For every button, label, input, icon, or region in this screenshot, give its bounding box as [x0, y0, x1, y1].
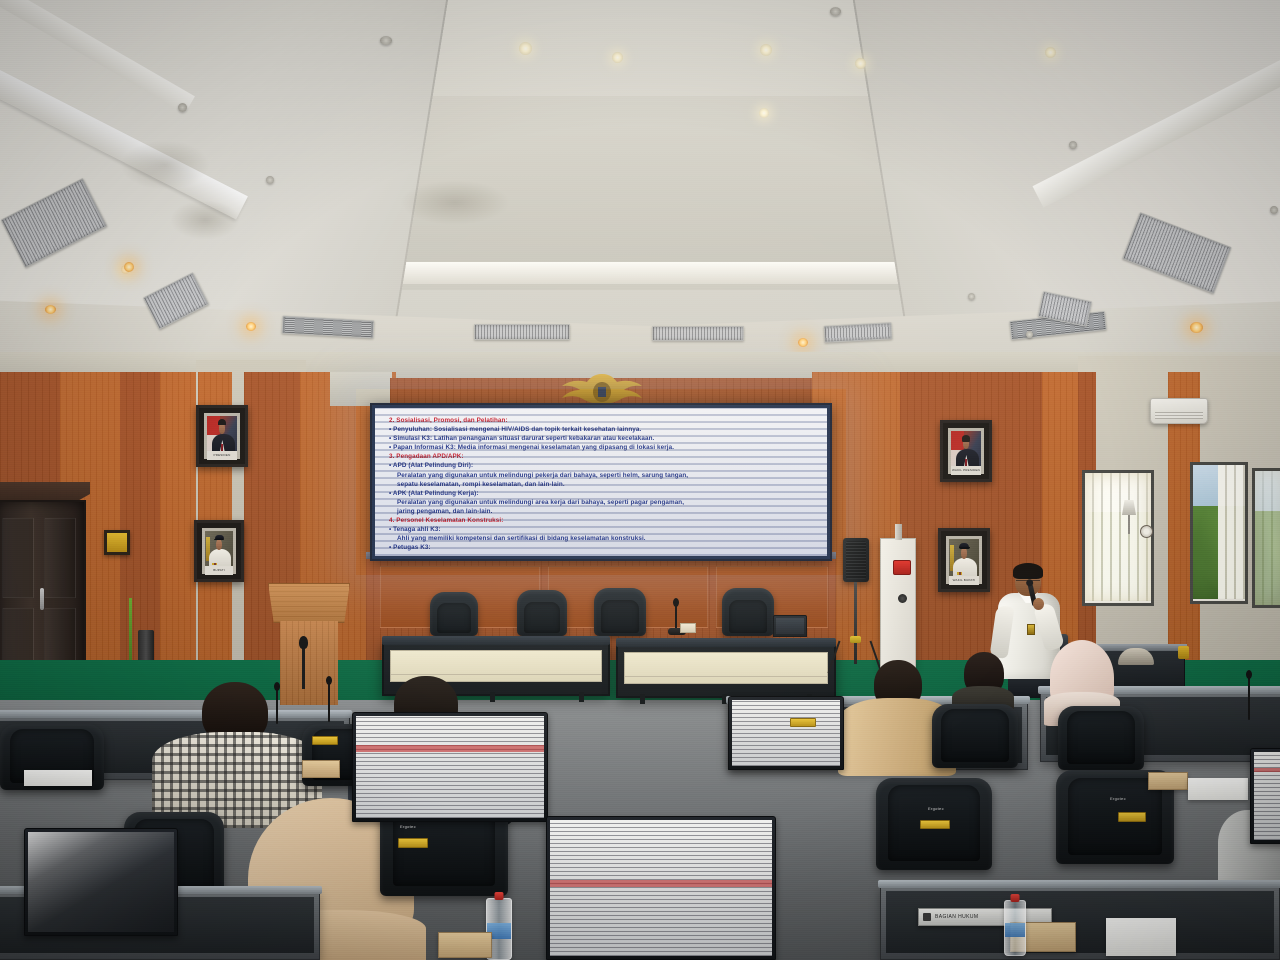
table-leg — [640, 694, 645, 704]
laptop-screen — [28, 832, 174, 932]
slide-line-1: • Penyuluhan: Sosialisasi mengenai HIV/A… — [389, 425, 817, 434]
table-top-edge — [382, 636, 610, 645]
portrait-caption: WAKIL PRESIDEN REPUBLIK INDONESIA — [951, 466, 981, 475]
portrait-image — [951, 431, 981, 471]
slide-line-7: sepatu keselamatan, rompi keselamatan, d… — [389, 480, 817, 489]
bottle-cap — [1011, 894, 1020, 902]
attendee-laptop-center[interactable] — [352, 712, 548, 822]
wall-behind-screen-top — [330, 372, 392, 406]
portrait-caption: BUPATI — [205, 566, 233, 575]
chair-asset-tag — [790, 718, 816, 727]
speaker-podium[interactable] — [268, 583, 350, 705]
desk-microphone[interactable] — [675, 604, 677, 630]
laptop-document-highlight — [1254, 768, 1280, 772]
window-blinds[interactable] — [1255, 471, 1280, 605]
downlight — [855, 58, 866, 69]
pa-loudspeaker — [843, 538, 869, 582]
downlight-warm — [45, 305, 56, 314]
water-bottle — [1004, 900, 1026, 956]
projection-screen[interactable]: 2. Sosialisasi, Promosi, dan Pelatihan:•… — [370, 403, 832, 561]
head-table-chair[interactable] — [517, 590, 567, 636]
snack-box — [438, 932, 492, 958]
downlight — [519, 42, 532, 55]
air-conditioner-unit — [1150, 398, 1208, 424]
speaker-stand-collar[interactable] — [850, 636, 861, 643]
downlight-warm — [798, 338, 808, 347]
table-leg — [579, 692, 584, 702]
portrait-official-right: WAKIL BUPATI — [938, 528, 990, 592]
slide-line-4: 3. Pengadaan APD/APK: — [389, 452, 817, 461]
slide-line-14: • Petugas K3: — [389, 543, 817, 552]
podium-top — [268, 583, 350, 623]
table-small-box — [680, 623, 696, 633]
nameplate-text: BAGIAN HUKUM — [935, 914, 978, 920]
chair-brand-logo: Ergotec — [928, 806, 944, 811]
subject-medals — [212, 563, 216, 566]
smoke-detector — [178, 103, 187, 112]
slide-line-0: 2. Sosialisasi, Promosi, dan Pelatihan: — [389, 416, 817, 425]
smoke-detector — [968, 293, 975, 300]
ceiling-stain — [400, 180, 510, 225]
downlight — [1045, 47, 1056, 58]
smoke-detector — [1069, 141, 1077, 149]
ac-vent-louver — [1155, 412, 1203, 419]
subject-hair — [962, 435, 970, 441]
hvac-vent — [474, 324, 570, 340]
portrait-official-left: BUPATI — [194, 520, 244, 582]
slide-line-10: jaring pengaman, dan lain-lain. — [389, 507, 817, 516]
portrait-president: PRESIDEN REPUBLIK INDONESIA — [196, 405, 248, 467]
audience-chair[interactable] — [1058, 706, 1144, 770]
sconce-rod — [1128, 515, 1130, 534]
bottle-label — [1005, 923, 1025, 937]
attendee-laptop-left[interactable] — [24, 828, 178, 936]
podium-microphone[interactable] — [302, 645, 305, 689]
laptop-screen — [1254, 752, 1280, 840]
slide-line-9: Peralatan yang digunakan untuk melindung… — [389, 498, 817, 507]
slide-text-body: 2. Sosialisasi, Promosi, dan Pelatihan:•… — [389, 416, 817, 552]
snack-box — [302, 760, 340, 778]
portrait-image — [205, 531, 233, 571]
meeting-room-photo: PRESIDEN REPUBLIK INDONESIA WAKIL PRESID… — [0, 0, 1280, 960]
attendee-laptop-right[interactable] — [728, 696, 844, 770]
subject-cap-brim — [959, 547, 970, 549]
snack-box — [1148, 772, 1188, 790]
window-left — [1082, 470, 1154, 606]
door-handle[interactable] — [40, 588, 44, 610]
laptop-document-lines — [1254, 752, 1280, 840]
downlight — [759, 108, 769, 118]
smoke-detector — [1270, 206, 1278, 214]
ceiling — [0, 0, 1280, 400]
red-fire-alarm-box[interactable] — [893, 560, 911, 575]
table-top-edge — [616, 638, 836, 647]
gold-wall-plaque — [104, 530, 130, 555]
wall-sconce-light — [1122, 500, 1136, 534]
desk-microphone[interactable] — [1248, 676, 1250, 720]
subject-cap-brim — [214, 539, 224, 541]
subject-medals — [957, 572, 962, 575]
nameplate-logo-icon — [923, 913, 931, 921]
window-right — [1252, 468, 1280, 608]
printed-document — [1106, 918, 1176, 956]
window-blinds[interactable] — [1218, 465, 1245, 601]
portrait-caption: WAKIL BUPATI — [949, 576, 979, 585]
laptop-document-lines — [356, 716, 544, 818]
hvac-vent — [824, 322, 893, 343]
head-table-laptop[interactable] — [773, 615, 807, 637]
portrait-image — [207, 416, 237, 456]
head-table-chair[interactable] — [430, 592, 478, 636]
downlight-warm — [124, 262, 134, 272]
chair-brand-logo: Ergotec — [400, 824, 416, 829]
presenter-name-badge — [1027, 624, 1035, 635]
hvac-vent — [652, 326, 744, 341]
door-panel — [2, 518, 34, 598]
yellow-cup — [1178, 646, 1189, 659]
window-center — [1190, 462, 1248, 604]
slide-line-2: • Simulasi K3: Latihan penanganan situas… — [389, 434, 817, 443]
subject-peci-cap — [218, 419, 226, 425]
laptop-screen — [732, 700, 840, 766]
subject-head — [216, 539, 222, 550]
speaker-stand-pole — [854, 582, 857, 664]
desk-top-edge — [878, 880, 1280, 888]
slide-line-12: • Tenaga ahli K3: — [389, 525, 817, 534]
slide-line-5: • APD (Alat Pelindung Diri): — [389, 461, 817, 470]
slide-line-8: • APK (Alat Pelindung Kerja): — [389, 489, 817, 498]
smoke-detector — [1026, 331, 1033, 338]
downlight — [612, 52, 623, 63]
portrait-caption: PRESIDEN REPUBLIK INDONESIA — [207, 451, 237, 460]
downlight — [760, 44, 772, 56]
desk-microphone[interactable] — [276, 688, 278, 724]
window-sill — [1190, 599, 1248, 604]
audience-chair[interactable] — [932, 704, 1018, 768]
head-table-right — [616, 642, 836, 698]
presenter-hand — [1033, 598, 1044, 610]
slide-line-3: • Papan Informasi K3: Media informasi me… — [389, 443, 817, 452]
laptop-screen — [776, 618, 804, 634]
chair-asset-tag — [1118, 812, 1146, 822]
laptop-document-highlight — [550, 880, 772, 887]
portrait-image — [949, 539, 979, 581]
cabinet-knob[interactable] — [898, 594, 907, 603]
ceiling-stain — [120, 140, 210, 190]
slide-line-6: Peralatan yang digunakan untuk melindung… — [389, 471, 817, 480]
slide-line-11: 4. Personel Keselamatan Konstruksi: — [389, 516, 817, 525]
laptop-screen — [356, 716, 544, 818]
portrait-vice-president: WAKIL PRESIDEN REPUBLIK INDONESIA — [940, 420, 992, 482]
attendee-laptop-front[interactable] — [546, 816, 776, 960]
bottle-cap — [495, 892, 504, 900]
attendee-laptop-edge[interactable] — [1250, 748, 1280, 844]
printed-document — [1188, 778, 1248, 800]
cabinet-pipe — [895, 524, 902, 540]
sconce-shade — [1122, 500, 1136, 515]
wall-fixture — [1140, 525, 1153, 538]
ceiling-stain — [170, 200, 240, 240]
chair-asset-tag — [920, 820, 950, 829]
window-blinds[interactable] — [1085, 473, 1151, 603]
utility-cabinet[interactable] — [880, 538, 916, 670]
laptop-document-lines — [732, 700, 840, 766]
smoke-detector — [830, 7, 841, 16]
slide-line-13: Ahli yang memiliki kompetensi dan sertif… — [389, 534, 817, 543]
head-table-chair[interactable] — [722, 588, 774, 636]
laptop-document-highlight — [356, 745, 544, 752]
chair-asset-tag — [398, 838, 428, 848]
chair-brand-logo: Ergotec — [1110, 796, 1126, 801]
smoke-detector — [266, 176, 274, 184]
head-table-chair[interactable] — [594, 588, 646, 636]
projected-slide: 2. Sosialisasi, Promosi, dan Pelatihan:•… — [375, 408, 827, 556]
downlight-warm — [246, 322, 256, 331]
printed-document — [24, 770, 92, 786]
table-front-panel — [624, 652, 828, 684]
door-panel — [44, 518, 76, 598]
laptop-screen — [550, 820, 772, 956]
chair-asset-tag — [312, 736, 338, 745]
desk-microphone[interactable] — [328, 682, 330, 722]
window-sill — [1082, 601, 1154, 606]
laptop-document-lines — [550, 820, 772, 956]
downlight-warm — [1190, 322, 1203, 333]
smoke-detector — [380, 36, 392, 45]
